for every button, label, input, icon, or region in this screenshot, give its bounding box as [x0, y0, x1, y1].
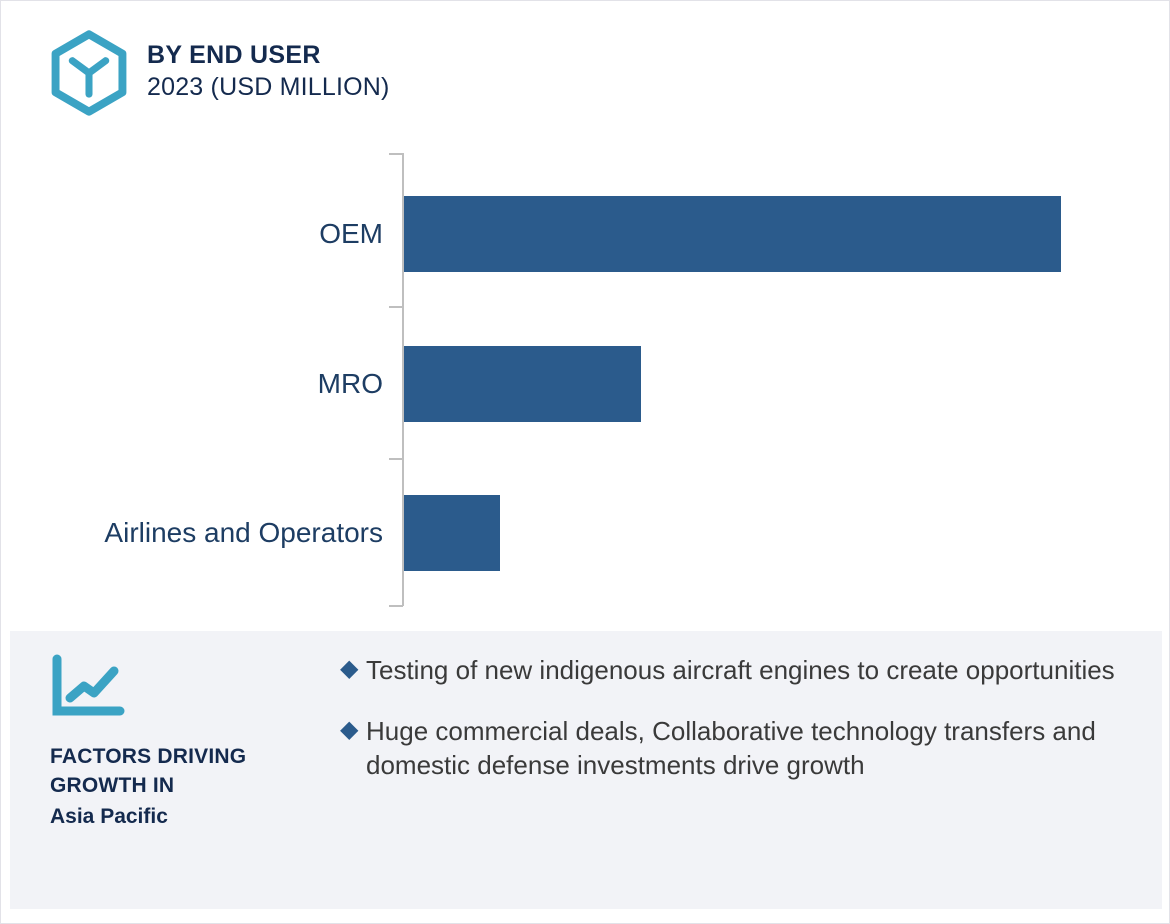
bar-row-mro: MRO — [1, 346, 1170, 422]
infographic-card: BY END USER 2023 (USD MILLION) OEM MRO A… — [0, 0, 1170, 924]
diamond-bullet-icon: ◆ — [340, 714, 366, 746]
list-item-text: Huge commercial deals, Collaborative tec… — [366, 714, 1140, 783]
bar-airlines[interactable] — [404, 495, 500, 571]
chart-header: BY END USER 2023 (USD MILLION) — [45, 29, 390, 117]
bar-row-airlines: Airlines and Operators — [1, 495, 1170, 571]
growth-factors-list: ◆ Testing of new indigenous aircraft eng… — [340, 653, 1140, 809]
bar-mro[interactable] — [404, 346, 641, 422]
bar-oem[interactable] — [404, 196, 1061, 272]
bar-label-mro: MRO — [1, 346, 383, 422]
growth-factors-region: Asia Pacific — [50, 803, 320, 832]
bar-label-oem: OEM — [1, 196, 383, 272]
bar-label-airlines: Airlines and Operators — [1, 495, 383, 571]
list-item: ◆ Testing of new indigenous aircraft eng… — [340, 653, 1140, 688]
hexagon-y-icon — [45, 29, 133, 117]
page-subtitle: 2023 (USD MILLION) — [147, 71, 390, 103]
growth-factors-heading-block: FACTORS DRIVING GROWTH IN Asia Pacific — [50, 653, 320, 832]
list-item-text: Testing of new indigenous aircraft engin… — [366, 653, 1115, 688]
axis-tick-1 — [389, 306, 403, 308]
list-item: ◆ Huge commercial deals, Collaborative t… — [340, 714, 1140, 783]
bar-chart: OEM MRO Airlines and Operators — [1, 141, 1170, 621]
axis-tick-bottom — [389, 605, 403, 607]
diamond-bullet-icon: ◆ — [340, 653, 366, 685]
header-text-block: BY END USER 2023 (USD MILLION) — [147, 29, 390, 103]
bar-row-oem: OEM — [1, 196, 1170, 272]
line-chart-icon — [50, 653, 126, 721]
page-title: BY END USER — [147, 41, 390, 71]
axis-tick-top — [389, 153, 403, 155]
growth-factors-title: FACTORS DRIVING GROWTH IN — [50, 743, 320, 801]
axis-tick-2 — [389, 458, 403, 460]
growth-factors-panel: FACTORS DRIVING GROWTH IN Asia Pacific ◆… — [10, 631, 1162, 909]
